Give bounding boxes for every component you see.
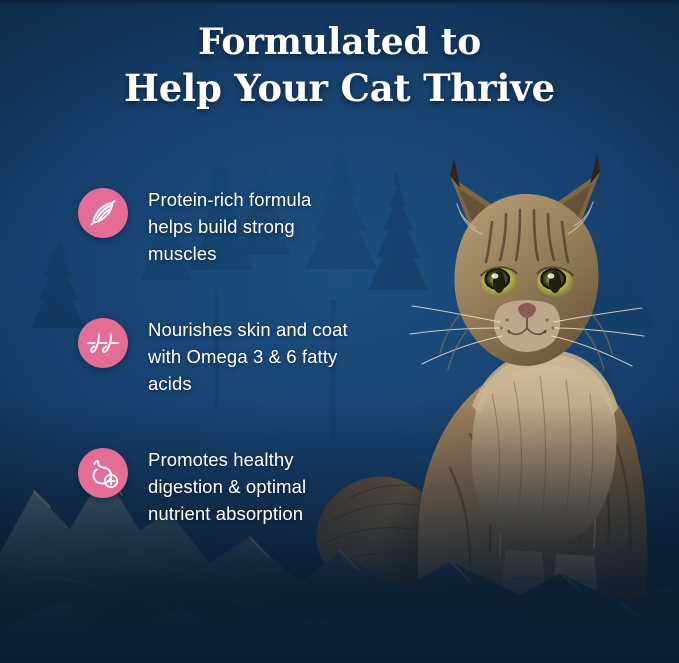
page-title: Formulated to Help Your Cat Thrive (0, 20, 679, 111)
headline-line-2: Help Your Cat Thrive (0, 65, 679, 111)
feature-text-digestion: Promotes healthy digestion & optimal nut… (148, 445, 353, 527)
muscle-fiber-icon (78, 188, 128, 238)
feature-item-digestion: Promotes healthy digestion & optimal nut… (78, 445, 353, 527)
feature-item-omega: Nourishes skin and coat with Omega 3 & 6… (78, 315, 353, 397)
product-feature-banner: Formulated to Help Your Cat Thrive Prote… (0, 0, 679, 663)
feature-item-protein: Protein-rich formula helps build strong … (78, 185, 353, 267)
feature-text-omega: Nourishes skin and coat with Omega 3 & 6… (148, 315, 353, 397)
headline-line-1: Formulated to (0, 20, 679, 65)
fatty-acid-strands-icon (78, 318, 128, 368)
feature-list: Protein-rich formula helps build strong … (78, 185, 353, 527)
feature-text-protein: Protein-rich formula helps build strong … (148, 185, 353, 267)
stomach-plus-icon (78, 448, 128, 498)
